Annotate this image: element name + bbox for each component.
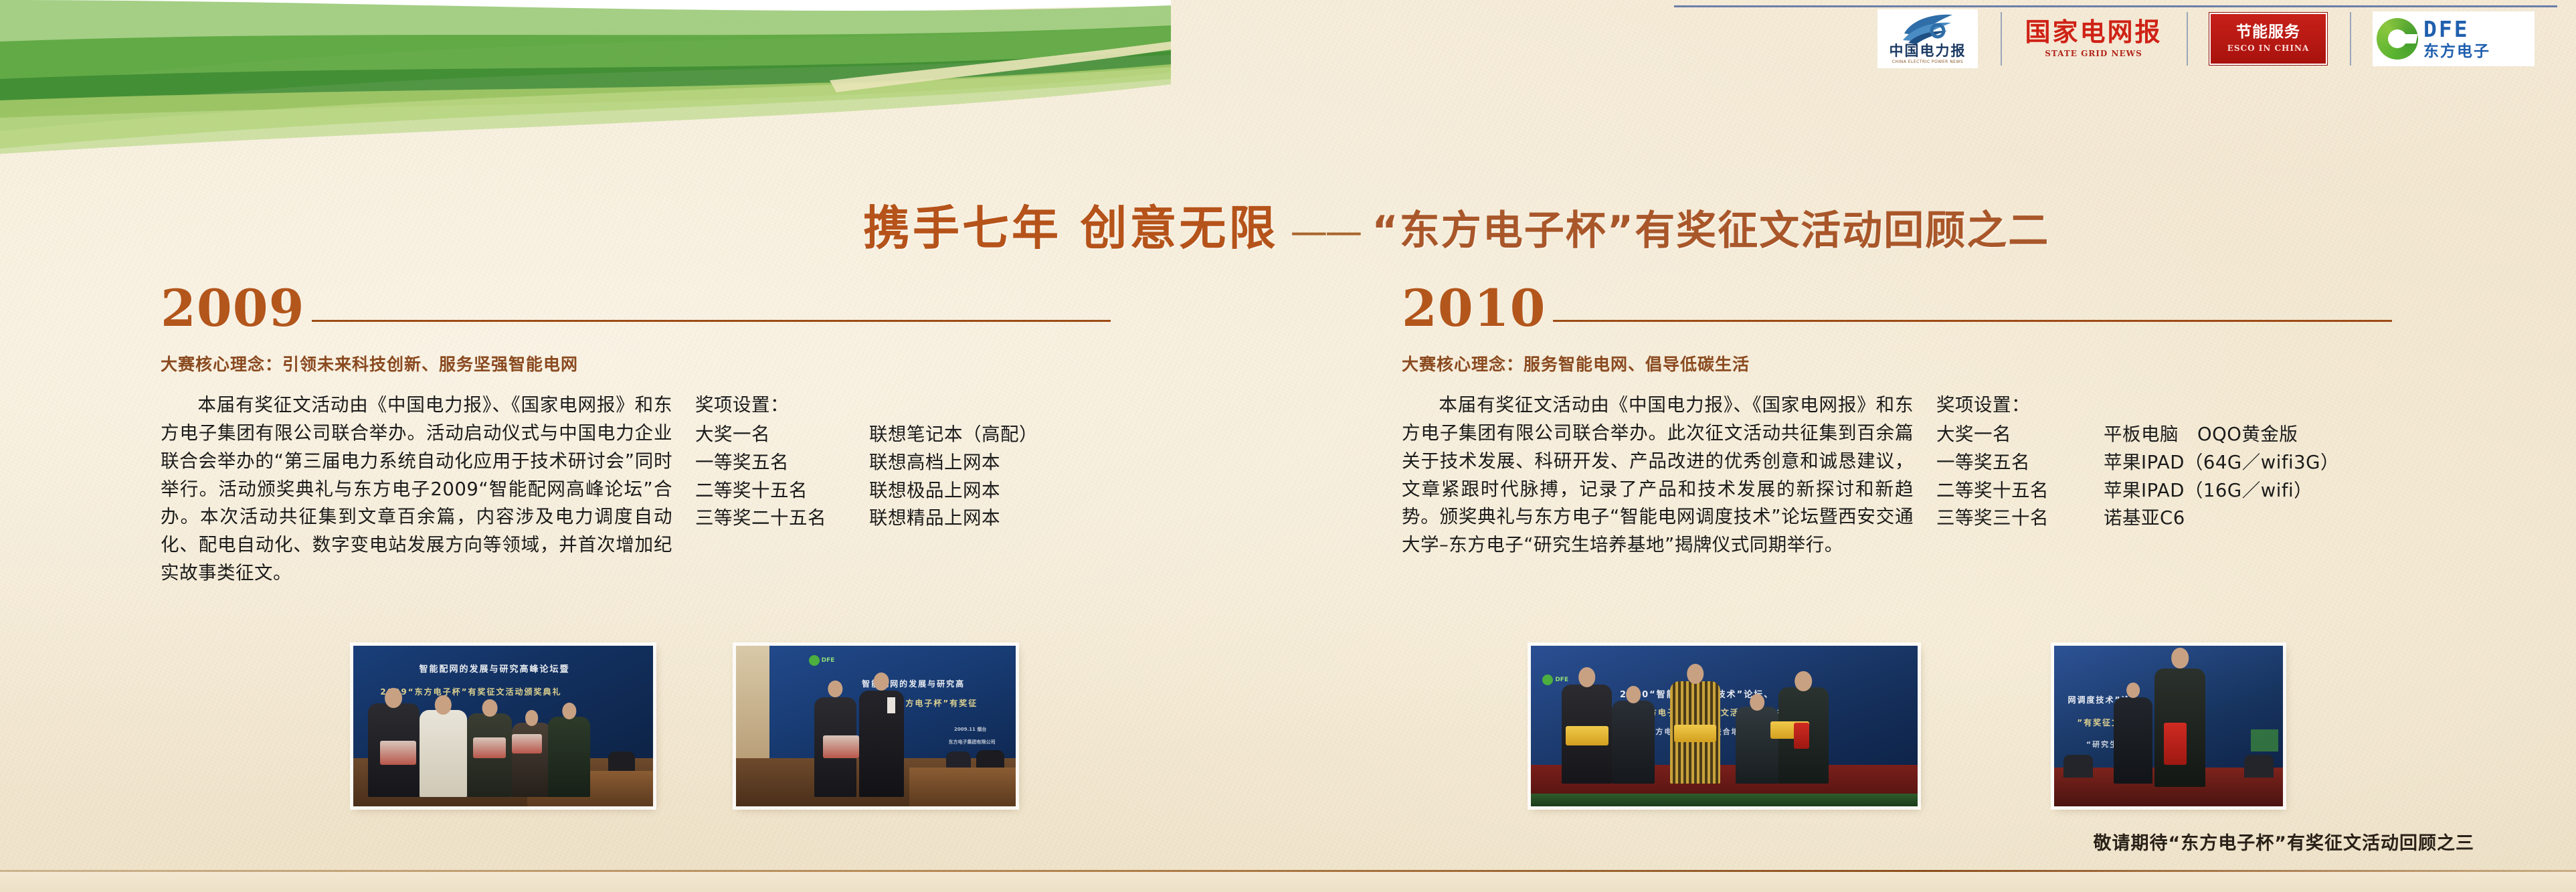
esco-in-china-logo: 节能服务 ESCO IN CHINA xyxy=(2209,13,2327,65)
award-level: 三等奖三十名 xyxy=(1936,505,2104,533)
award-prize: 联想笔记本（高配） xyxy=(869,421,1038,449)
photo-banner-line-3: 2009.11 烟台 xyxy=(954,726,986,733)
logo-cell-state-grid-news: 国家电网报 STATE GRID NEWS xyxy=(2001,8,2187,70)
award-prize: 苹果IPAD（16G／wifi） xyxy=(2104,477,2312,505)
photo-2009-award-group: 智能配网的发展与研究高峰论坛暨 2009“东方电子杯”有奖征文活动颁奖典礼 xyxy=(353,646,653,806)
awards-heading-2010: 奖项设置： xyxy=(1936,391,2339,420)
year-label-2010: 2010 xyxy=(1402,284,1546,333)
award-row: 三等奖二十五名联想精品上网本 xyxy=(695,505,1038,533)
award-row: 大奖一名联想笔记本（高配） xyxy=(695,421,1038,449)
awards-heading-2009: 奖项设置： xyxy=(695,391,1038,420)
award-prize: 联想精品上网本 xyxy=(869,505,1000,533)
dfe-banner-logo-icon: DFE xyxy=(809,655,835,666)
award-row: 二等奖十五名联想极品上网本 xyxy=(695,477,1038,505)
photo-banner-line-2: 2009“东方电子杯”有奖征文活动颁奖典礼 xyxy=(380,686,561,697)
green-swoosh-decoration xyxy=(0,0,1171,154)
award-level: 一等奖五名 xyxy=(1936,449,2104,477)
year-label-2009: 2009 xyxy=(161,284,305,333)
title-sub: “东方电子杯”有奖征文活动回顾之二 xyxy=(1372,198,2049,256)
photo-2010-award-group: DFE 2010“智能电网调度技术”论坛、 东方电子杯”有奖征文活动颁奖典礼 东… xyxy=(1531,646,1918,806)
state-grid-news-logo: 国家电网报 STATE GRID NEWS xyxy=(2023,11,2164,67)
logo-cell-dfe: DFE 东方电子 xyxy=(2350,8,2557,70)
paragraph-2010-text: 本届有奖征文活动由《中国电力报》、《国家电网报》和东方电子集团有限公司联合举办。… xyxy=(1402,394,1914,555)
logo-cell-esco-in-china: 节能服务 ESCO IN CHINA xyxy=(2187,8,2350,70)
title-main: 携手七年 创意无限 xyxy=(863,191,1278,258)
sgn-en-text: STATE GRID NEWS xyxy=(2045,49,2142,58)
awards-2010: 奖项设置： 大奖一名平板电脑 OQO黄金版 一等奖五名苹果IPAD（64G／wi… xyxy=(1936,391,2339,559)
column-2010: 2010 大赛核心理念：服务智能电网、倡导低碳生活 本届有奖征文活动由《中国电力… xyxy=(1402,284,2392,559)
year-header-2009: 2009 xyxy=(161,284,1111,333)
cepn-bird-icon xyxy=(1899,13,1956,44)
award-level: 大奖一名 xyxy=(1936,421,2104,449)
sponsor-logo-bar: 中国电力报 CHINA ELECTRIC POWER NEWS 国家电网报 ST… xyxy=(1855,7,2557,71)
year-rule-2010 xyxy=(1553,320,2392,322)
column-divider xyxy=(1271,288,1273,616)
dfe-circle-icon xyxy=(2377,18,2418,60)
cepn-en-text: CHINA ELECTRIC POWER NEWS xyxy=(1892,60,1963,64)
year-rule-2009 xyxy=(312,320,1111,322)
column-2009: 2009 大赛核心理念：引领未来科技创新、服务坚强智能电网 本届有奖征文活动由《… xyxy=(161,284,1111,588)
paragraph-2009: 本届有奖征文活动由《中国电力报》、《国家电网报》和东方电子集团有限公司联合举办。… xyxy=(161,391,672,588)
photo-2010-award-single: 网调度技术”论 ”有奖征文 “研究生联合 xyxy=(2054,646,2283,806)
year-header-2010: 2010 xyxy=(1402,284,2392,333)
dfe-logo: DFE 东方电子 xyxy=(2373,11,2535,66)
award-row: 一等奖五名联想高档上网本 xyxy=(695,449,1038,477)
sgn-cn-text: 国家电网报 xyxy=(2025,19,2162,45)
title-dash: —— xyxy=(1290,210,1360,254)
award-level: 三等奖二十五名 xyxy=(695,505,869,533)
china-electric-power-news-logo: 中国电力报 CHINA ELECTRIC POWER NEWS xyxy=(1877,9,1978,68)
paragraph-2010: 本届有奖征文活动由《中国电力报》、《国家电网报》和东方电子集团有限公司联合举办。… xyxy=(1402,391,1914,559)
cepn-cn-text: 中国电力报 xyxy=(1890,44,1966,58)
concept-2010: 大赛核心理念：服务智能电网、倡导低碳生活 xyxy=(1402,351,2392,375)
award-prize: 苹果IPAD（64G／wifi3G） xyxy=(2104,449,2339,477)
award-level: 二等奖十五名 xyxy=(1936,477,2104,505)
award-level: 一等奖五名 xyxy=(695,449,869,477)
award-row: 二等奖十五名苹果IPAD（16G／wifi） xyxy=(1936,477,2339,505)
esco-en-text: ESCO IN CHINA xyxy=(2227,43,2310,53)
award-level: 大奖一名 xyxy=(695,421,869,449)
photo-banner-line-4: 东方电子集团有限公司 xyxy=(949,739,996,745)
awards-2009: 奖项设置： 大奖一名联想笔记本（高配） 一等奖五名联想高档上网本 二等奖十五名联… xyxy=(695,391,1038,588)
award-row: 三等奖三十名诺基亚C6 xyxy=(1936,505,2339,533)
dfe-banner-logo-icon: DFE xyxy=(1542,675,1568,685)
award-prize: 诺基亚C6 xyxy=(2104,505,2185,533)
dfe-cn-text: 东方电子 xyxy=(2423,44,2490,60)
photo-2009-award-single: DFE 智能配网的发展与研究高 2009“东方电子杯”有奖征 2009.11 烟… xyxy=(736,646,1016,806)
footer-band xyxy=(0,872,2576,892)
page-title: 携手七年 创意无限 —— “东方电子杯”有奖征文活动回顾之二 xyxy=(863,191,2049,258)
esco-cn-text: 节能服务 xyxy=(2236,25,2300,40)
award-level: 二等奖十五名 xyxy=(695,477,869,505)
dfe-latin-text: DFE xyxy=(2423,18,2490,40)
award-row: 一等奖五名苹果IPAD（64G／wifi3G） xyxy=(1936,449,2339,477)
photo-banner-line-1: 智能配网的发展与研究高峰论坛暨 xyxy=(420,662,570,675)
concept-2009: 大赛核心理念：引领未来科技创新、服务坚强智能电网 xyxy=(161,351,1111,375)
poster-canvas: 中国电力报 CHINA ELECTRIC POWER NEWS 国家电网报 ST… xyxy=(0,0,2576,892)
award-row: 大奖一名平板电脑 OQO黄金版 xyxy=(1936,421,2339,449)
logo-cell-china-electric-power-news: 中国电力报 CHINA ELECTRIC POWER NEWS xyxy=(1855,8,2001,70)
award-prize: 联想高档上网本 xyxy=(869,449,1000,477)
award-prize: 联想极品上网本 xyxy=(869,477,1000,505)
paragraph-2009-text: 本届有奖征文活动由《中国电力报》、《国家电网报》和东方电子集团有限公司联合举办。… xyxy=(161,394,672,584)
award-prize: 平板电脑 OQO黄金版 xyxy=(2104,421,2298,449)
footer-note: 敬请期待“东方电子杯”有奖征文活动回顾之三 xyxy=(2094,828,2475,855)
